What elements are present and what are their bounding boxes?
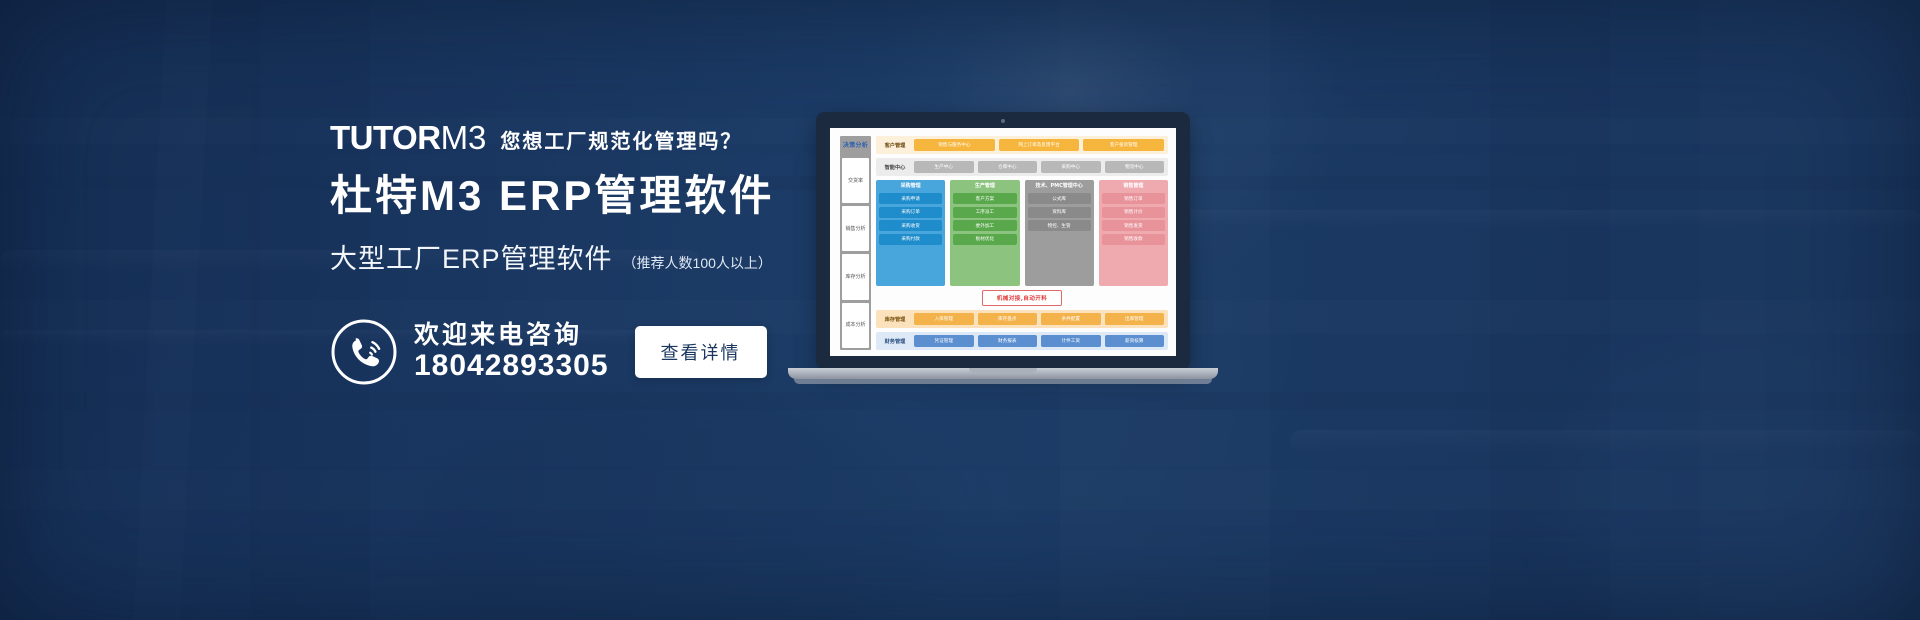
erp-column-item: 采购订单	[879, 207, 942, 218]
erp-sidebar-item: 成本分析	[842, 303, 869, 348]
page-title: 杜特M3 ERP管理软件	[330, 172, 850, 219]
erp-chip: 入库管理	[914, 313, 974, 325]
subtitle-main: 大型工厂ERP管理软件	[330, 237, 613, 276]
laptop-screen: 决策分析 交货率 销售分析 库存分析 成本分析 客户管理 销售与服务中心 网上订…	[830, 128, 1176, 356]
erp-band-smart-center: 智能中心 生产中心 仓库中心 采购中心 物流中心	[876, 158, 1168, 176]
erp-chip: 薪资核算	[1105, 335, 1165, 347]
erp-column-item: 委外加工	[953, 220, 1016, 231]
promo-banner: TUTORM3 您想工厂规范化管理吗？ 杜特M3 ERP管理软件 大型工厂ERP…	[0, 0, 1920, 620]
erp-sidebar-heading: 决策分析	[842, 138, 869, 155]
erp-band-title: 智能中心	[880, 164, 910, 171]
erp-architecture-diagram: 决策分析 交货率 销售分析 库存分析 成本分析 客户管理 销售与服务中心 网上订…	[830, 128, 1176, 356]
erp-column-production: 生产管理 客户方案 工序派工 委外加工 板材优化	[950, 180, 1019, 286]
erp-module-columns: 采购管理 采购申请 采购订单 采购收货 采购付款 生产管理 客户方案 工序派工	[876, 180, 1168, 286]
erp-column-header: 销售管理	[1102, 183, 1165, 191]
erp-column-header: 技术、PMC管理中心	[1028, 183, 1091, 191]
erp-chip: 网上订单及反馈平台	[999, 139, 1080, 151]
erp-column-item: 销售收款	[1102, 234, 1165, 245]
erp-column-item: 资料库	[1028, 207, 1091, 218]
erp-column-item: 客户方案	[953, 193, 1016, 204]
erp-chip: 条件配置	[1041, 313, 1101, 325]
erp-chip: 销售与服务中心	[914, 139, 995, 151]
erp-column-header: 采购管理	[879, 183, 942, 191]
erp-column-item: 采购收货	[879, 220, 942, 231]
erp-chip: 生产中心	[914, 161, 974, 173]
erp-column-header: 生产管理	[953, 183, 1016, 191]
erp-chip: 物流中心	[1105, 161, 1165, 173]
headline-block: TUTORM3 您想工厂规范化管理吗？ 杜特M3 ERP管理软件 大型工厂ERP…	[330, 118, 850, 276]
erp-chip: 凭证管理	[914, 335, 974, 347]
erp-chip: 库存盘点	[978, 313, 1038, 325]
erp-column-item: 销售计价	[1102, 207, 1165, 218]
view-details-button[interactable]: 查看详情	[635, 326, 767, 378]
webcam-dot	[1001, 119, 1005, 123]
erp-sidebar-item: 库存分析	[842, 254, 869, 299]
erp-band-title: 财务管理	[880, 338, 910, 345]
subtitle-note: （推荐人数100人以上）	[623, 253, 772, 273]
erp-column-technology: 技术、PMC管理中心 公式库 资料库 物控、生管	[1025, 180, 1094, 286]
phone-number: 18042893305	[414, 350, 609, 382]
laptop-foot	[794, 379, 1212, 384]
laptop-notch	[969, 368, 1037, 373]
laptop-lid: 决策分析 交货率 销售分析 库存分析 成本分析 客户管理 销售与服务中心 网上订…	[816, 112, 1190, 370]
brand-logo-main: TUTOR	[330, 119, 441, 156]
erp-column-sales: 销售管理 销售订单 销售计价 销售发货 销售收款	[1099, 180, 1168, 286]
erp-highlight-box: 机械对接,自动开料	[982, 290, 1062, 306]
erp-chip: 财务报表	[978, 335, 1038, 347]
contact-block: 欢迎来电咨询 18042893305 查看详情	[330, 318, 767, 386]
erp-sidebar-item: 交货率	[842, 158, 869, 203]
erp-sidebar-item: 销售分析	[842, 206, 869, 251]
erp-column-item: 采购申请	[879, 193, 942, 204]
laptop-mockup: 决策分析 交货率 销售分析 库存分析 成本分析 客户管理 销售与服务中心 网上订…	[788, 112, 1218, 387]
erp-band-title: 库存管理	[880, 316, 910, 323]
erp-column-item: 销售订单	[1102, 193, 1165, 204]
erp-band-customer: 客户管理 销售与服务中心 网上订单及反馈平台 客户投诉管理	[876, 136, 1168, 154]
erp-column-item: 工序派工	[953, 207, 1016, 218]
erp-column-item: 采购付款	[879, 234, 942, 245]
erp-band-title: 客户管理	[880, 142, 910, 149]
erp-column-purchase: 采购管理 采购申请 采购订单 采购收货 采购付款	[876, 180, 945, 286]
erp-chip: 计件工资	[1041, 335, 1101, 347]
erp-column-item: 销售发货	[1102, 220, 1165, 231]
welcome-text: 欢迎来电咨询	[414, 322, 609, 349]
erp-column-item: 公式库	[1028, 193, 1091, 204]
erp-band-finance: 财务管理 凭证管理 财务报表 计件工资 薪资核算	[876, 332, 1168, 350]
erp-sidebar: 决策分析 交货率 销售分析 库存分析 成本分析	[840, 136, 871, 350]
kicker-text: 您想工厂规范化管理吗？	[500, 132, 742, 154]
phone-call-icon	[330, 318, 398, 386]
erp-chip: 客户投诉管理	[1083, 139, 1164, 151]
brand-logo: TUTORM3	[330, 121, 486, 154]
erp-chip: 出库管理	[1105, 313, 1165, 325]
erp-column-item: 物控、生管	[1028, 220, 1091, 231]
erp-chip: 采购中心	[1041, 161, 1101, 173]
erp-column-item: 板材优化	[953, 234, 1016, 245]
erp-chip: 仓库中心	[978, 161, 1038, 173]
erp-band-inventory: 库存管理 入库管理 库存盘点 条件配置 出库管理	[876, 310, 1168, 328]
brand-logo-suffix: M3	[441, 119, 487, 156]
